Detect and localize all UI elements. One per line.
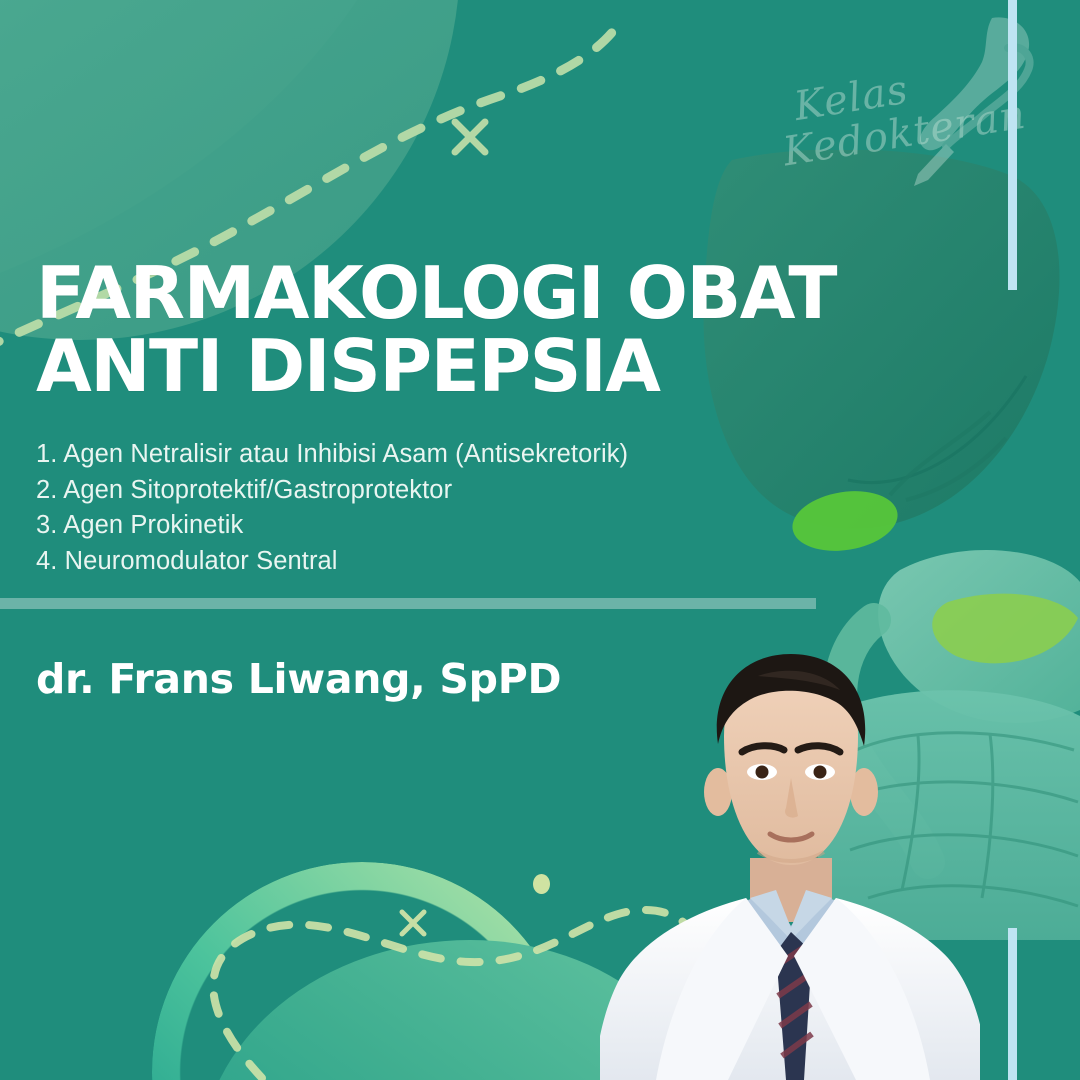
pupil-right — [814, 766, 827, 779]
page-title: FARMAKOLOGI OBAT ANTI DISPEPSIA — [36, 258, 996, 403]
right-accent-rule-bottom — [1008, 928, 1017, 1080]
title-line-1: FARMAKOLOGI OBAT — [36, 258, 996, 329]
right-accent-rule-top — [1008, 0, 1017, 290]
slide-canvas: Kelas Kedokteran FARMAKOLOGI OBAT ANTI D… — [0, 0, 1080, 1080]
doctor-portrait-photo — [600, 640, 980, 1080]
list-item: 2. Agen Sitoprotektif/Gastroprotektor — [36, 473, 756, 509]
title-line-2: ANTI DISPEPSIA — [36, 331, 996, 402]
list-item: 3. Agen Prokinetik — [36, 508, 756, 544]
list-item: 1. Agen Netralisir atau Inhibisi Asam (A… — [36, 437, 756, 473]
pupil-left — [756, 766, 769, 779]
list-item: 4. Neuromodulator Sentral — [36, 544, 756, 580]
agenda-list: 1. Agen Netralisir atau Inhibisi Asam (A… — [36, 437, 756, 579]
presenter-name: dr. Frans Liwang, SpPD — [36, 655, 561, 703]
x-marker-icon — [402, 912, 424, 934]
divider — [0, 598, 816, 609]
x-marker-icon — [455, 122, 485, 152]
